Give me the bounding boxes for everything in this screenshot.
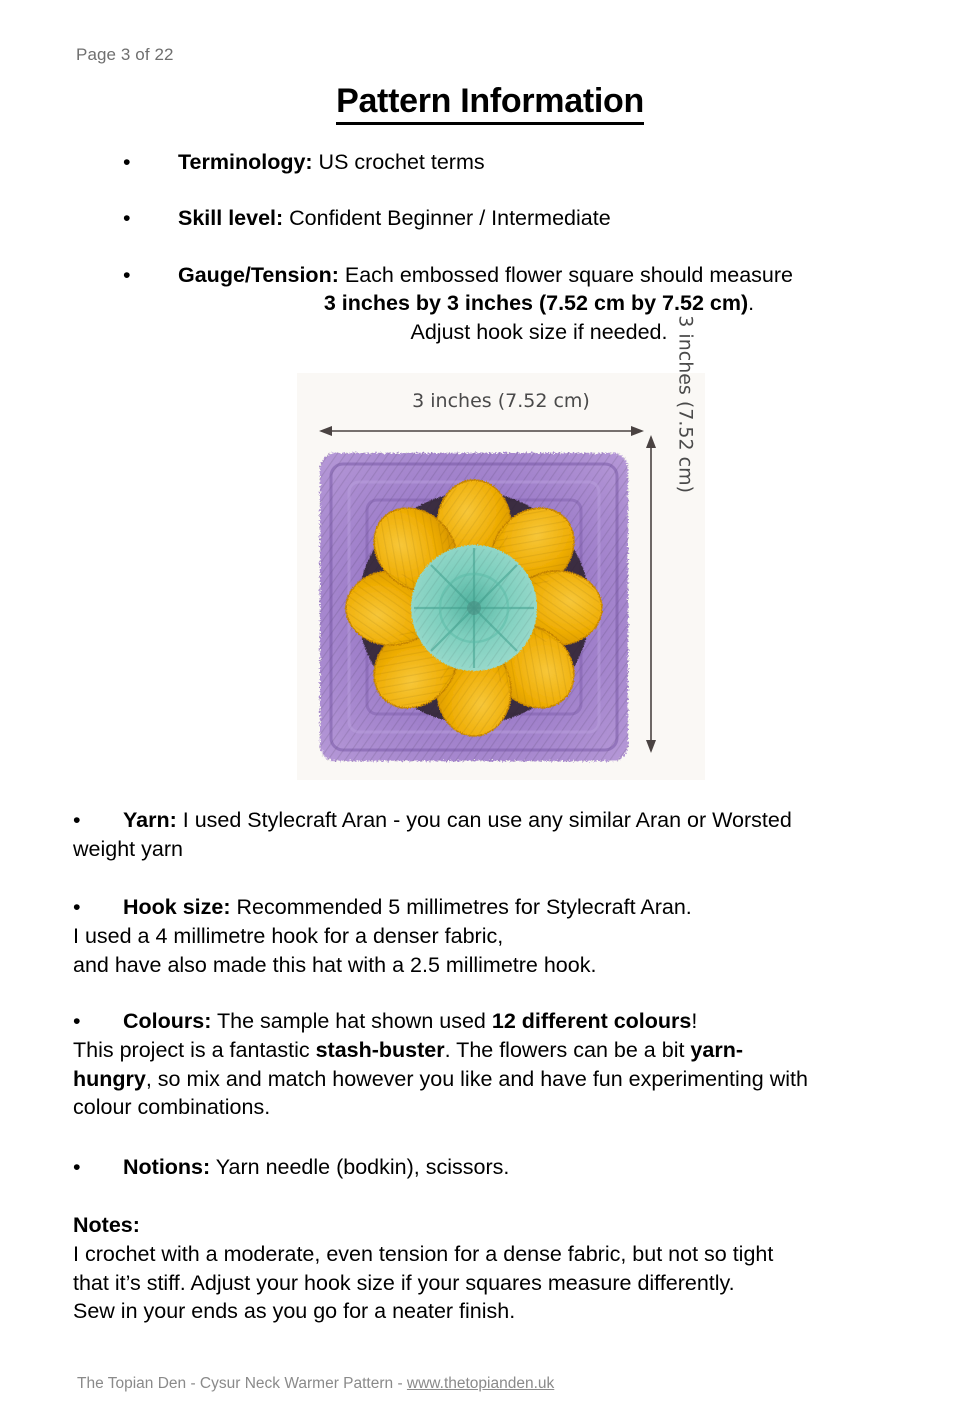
bullet-icon: • xyxy=(123,261,131,289)
yarn-label: Yarn: xyxy=(123,808,177,832)
spec-label-terminology: Terminology: xyxy=(178,150,313,174)
notes-line-3: Sew in your ends as you go for a neater … xyxy=(73,1297,935,1326)
colours-paragraph: • Colours: The sample hat shown used 12 … xyxy=(73,1007,935,1122)
notes-paragraph: Notes: I crochet with a moderate, even t… xyxy=(73,1211,935,1326)
bullet-icon: • xyxy=(123,148,131,176)
notes-line-2: that it’s stiff. Adjust your hook size i… xyxy=(73,1269,935,1298)
page-number: Page 3 of 22 xyxy=(76,45,174,65)
spec-item-gauge-tension: • Gauge/Tension: Each embossed flower sq… xyxy=(120,261,920,347)
colours-count-emphasis: 12 different colours xyxy=(492,1009,692,1033)
crochet-granny-square-photo xyxy=(315,448,633,766)
colours-line-3: hungry, so mix and match however you lik… xyxy=(73,1065,935,1094)
hook-line-1: • Hook size: Recommended 5 millimetres f… xyxy=(73,893,935,922)
page-title: Pattern Information xyxy=(0,82,980,121)
gauge-measurement-line: 3 inches by 3 inches (7.52 cm by 7.52 cm… xyxy=(158,289,920,318)
notions-text-1: Yarn needle (bodkin), scissors. xyxy=(210,1155,509,1179)
page-footer: The Topian Den - Cysur Neck Warmer Patte… xyxy=(77,1375,554,1393)
colours-text-2a: This project is a fantastic xyxy=(73,1038,316,1062)
hook-line-3: and have also made this hat with a 2.5 m… xyxy=(73,951,935,980)
notions-paragraph: • Notions: Yarn needle (bodkin), scissor… xyxy=(73,1153,935,1182)
notes-heading-text: Notes: xyxy=(73,1213,140,1237)
notions-label: Notions: xyxy=(123,1155,210,1179)
yarn-line-1: • Yarn: I used Stylecraft Aran - you can… xyxy=(73,806,935,835)
width-dimension-arrow-icon xyxy=(319,425,644,437)
gauge-measurement-period: . xyxy=(748,291,754,315)
yarn-hungry-emphasis-part1: yarn- xyxy=(690,1038,743,1062)
stash-buster-emphasis: stash-buster xyxy=(316,1038,445,1062)
height-dimension-arrow-icon xyxy=(645,435,657,753)
spec-item-terminology: • Terminology: US crochet terms xyxy=(120,148,920,176)
hook-text-1: Recommended 5 millimetres for Stylecraft… xyxy=(231,895,692,919)
notions-line-1: • Notions: Yarn needle (bodkin), scissor… xyxy=(73,1153,935,1182)
colours-text-1a: The sample hat shown used xyxy=(211,1009,491,1033)
bullet-icon: • xyxy=(123,204,131,232)
yarn-line-2: weight yarn xyxy=(73,835,935,864)
spec-value-skill-level: Confident Beginner / Intermediate xyxy=(283,206,610,230)
footer-text: The Topian Den - Cysur Neck Warmer Patte… xyxy=(77,1375,407,1392)
colours-text-1b: ! xyxy=(691,1009,697,1033)
colours-line-1: • Colours: The sample hat shown used 12 … xyxy=(73,1007,935,1036)
gauge-measurement-bold: 3 inches by 3 inches (7.52 cm by 7.52 cm… xyxy=(324,291,748,315)
notes-heading: Notes: xyxy=(73,1211,935,1240)
bullet-icon: • xyxy=(73,806,81,835)
spec-label-skill-level: Skill level: xyxy=(178,206,283,230)
page-title-text: Pattern Information xyxy=(336,82,644,125)
footer-url-link[interactable]: www.thetopianden.uk xyxy=(407,1375,554,1392)
spec-item-skill-level: • Skill level: Confident Beginner / Inte… xyxy=(120,204,920,232)
colours-line-4: colour combinations. xyxy=(73,1093,935,1122)
hook-size-paragraph: • Hook size: Recommended 5 millimetres f… xyxy=(73,893,935,979)
hook-line-2: I used a 4 millimetre hook for a denser … xyxy=(73,922,935,951)
specs-list: • Terminology: US crochet terms • Skill … xyxy=(120,148,920,375)
gauge-swatch-figure: 3 inches (7.52 cm) 3 inches (7.52 cm) xyxy=(297,373,705,780)
yarn-paragraph: • Yarn: I used Stylecraft Aran - you can… xyxy=(73,806,935,864)
bullet-icon: • xyxy=(73,1153,81,1182)
figure-height-label: 3 inches (7.52 cm) xyxy=(675,315,697,493)
colours-text-2b: . The flowers can be a bit xyxy=(445,1038,691,1062)
hook-label: Hook size: xyxy=(123,895,231,919)
colours-text-3: , so mix and match however you like and … xyxy=(146,1067,808,1091)
spec-value-terminology: US crochet terms xyxy=(313,150,485,174)
notes-line-1: I crochet with a moderate, even tension … xyxy=(73,1240,935,1269)
colours-line-2: This project is a fantastic stash-buster… xyxy=(73,1036,935,1065)
yarn-hungry-emphasis-part2: hungry xyxy=(73,1067,146,1091)
spec-label-gauge-tension: Gauge/Tension: xyxy=(178,263,339,287)
bullet-icon: • xyxy=(73,893,81,922)
colours-label: Colours: xyxy=(123,1009,211,1033)
spec-value-gauge-tension: Each embossed flower square should measu… xyxy=(339,263,793,287)
yarn-text-1: I used Stylecraft Aran - you can use any… xyxy=(177,808,792,832)
flower-centre-texture xyxy=(414,548,534,668)
document-page: Page 3 of 22 Pattern Information • Termi… xyxy=(0,0,980,1418)
bullet-icon: • xyxy=(73,1007,81,1036)
gauge-adjust-line: Adjust hook size if needed. xyxy=(158,318,920,347)
figure-width-label: 3 inches (7.52 cm) xyxy=(297,390,705,412)
